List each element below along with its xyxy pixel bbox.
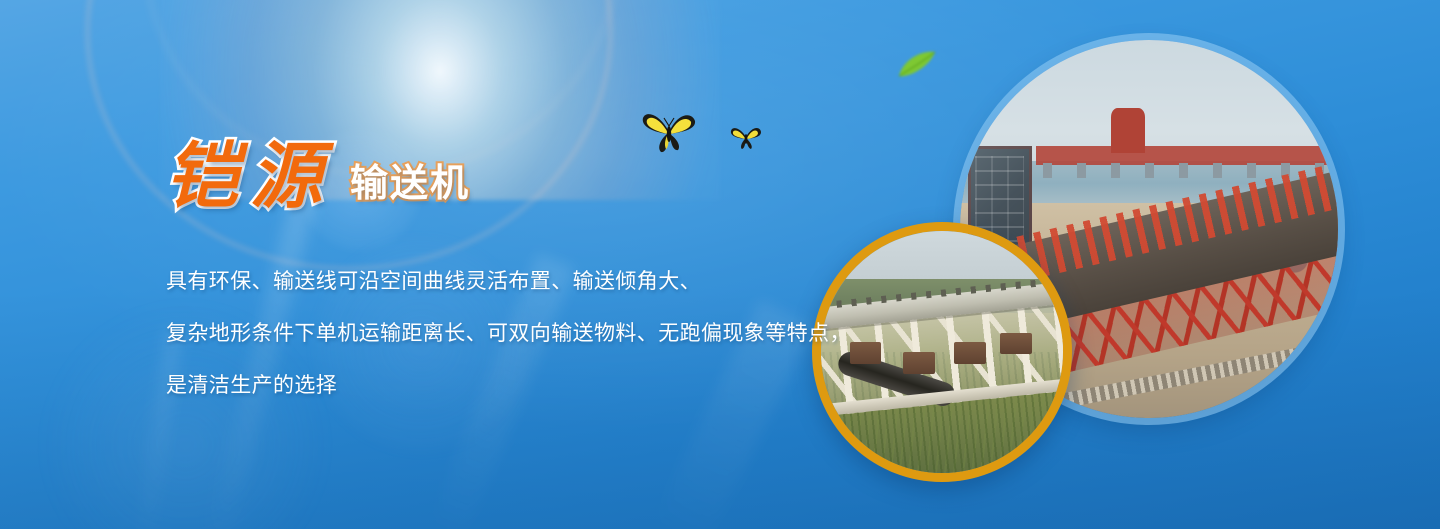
description-line-2: 复杂地形条件下单机运输距离长、可双向输送物料、无跑偏现象等特点， [166,308,886,360]
page-title: 铠源 [166,140,334,212]
photo-chute-2 [903,352,934,374]
butterfly-small-icon [730,124,762,150]
banner-description: 具有环保、输送线可沿空间曲线灵活布置、输送倾角大、 复杂地形条件下单机运输距离长… [166,256,886,412]
butterfly-large-icon [640,108,698,154]
product-banner: 铠源 输送机 具有环保、输送线可沿空间曲线灵活布置、输送倾角大、 复杂地形条件下… [0,0,1440,529]
photo-shiploader [1111,108,1145,153]
description-line-1: 具有环保、输送线可沿空间曲线灵活布置、输送倾角大、 [166,256,886,308]
leaf-icon [895,50,937,80]
photo-chute-3 [954,342,985,364]
photo-chute-4 [1000,333,1031,355]
brand-title-row: 铠源 输送机 [166,140,470,212]
product-subtitle: 输送机 [350,164,470,202]
description-line-3: 是清洁生产的选择 [166,360,886,412]
lens-ring-outer [86,0,612,270]
